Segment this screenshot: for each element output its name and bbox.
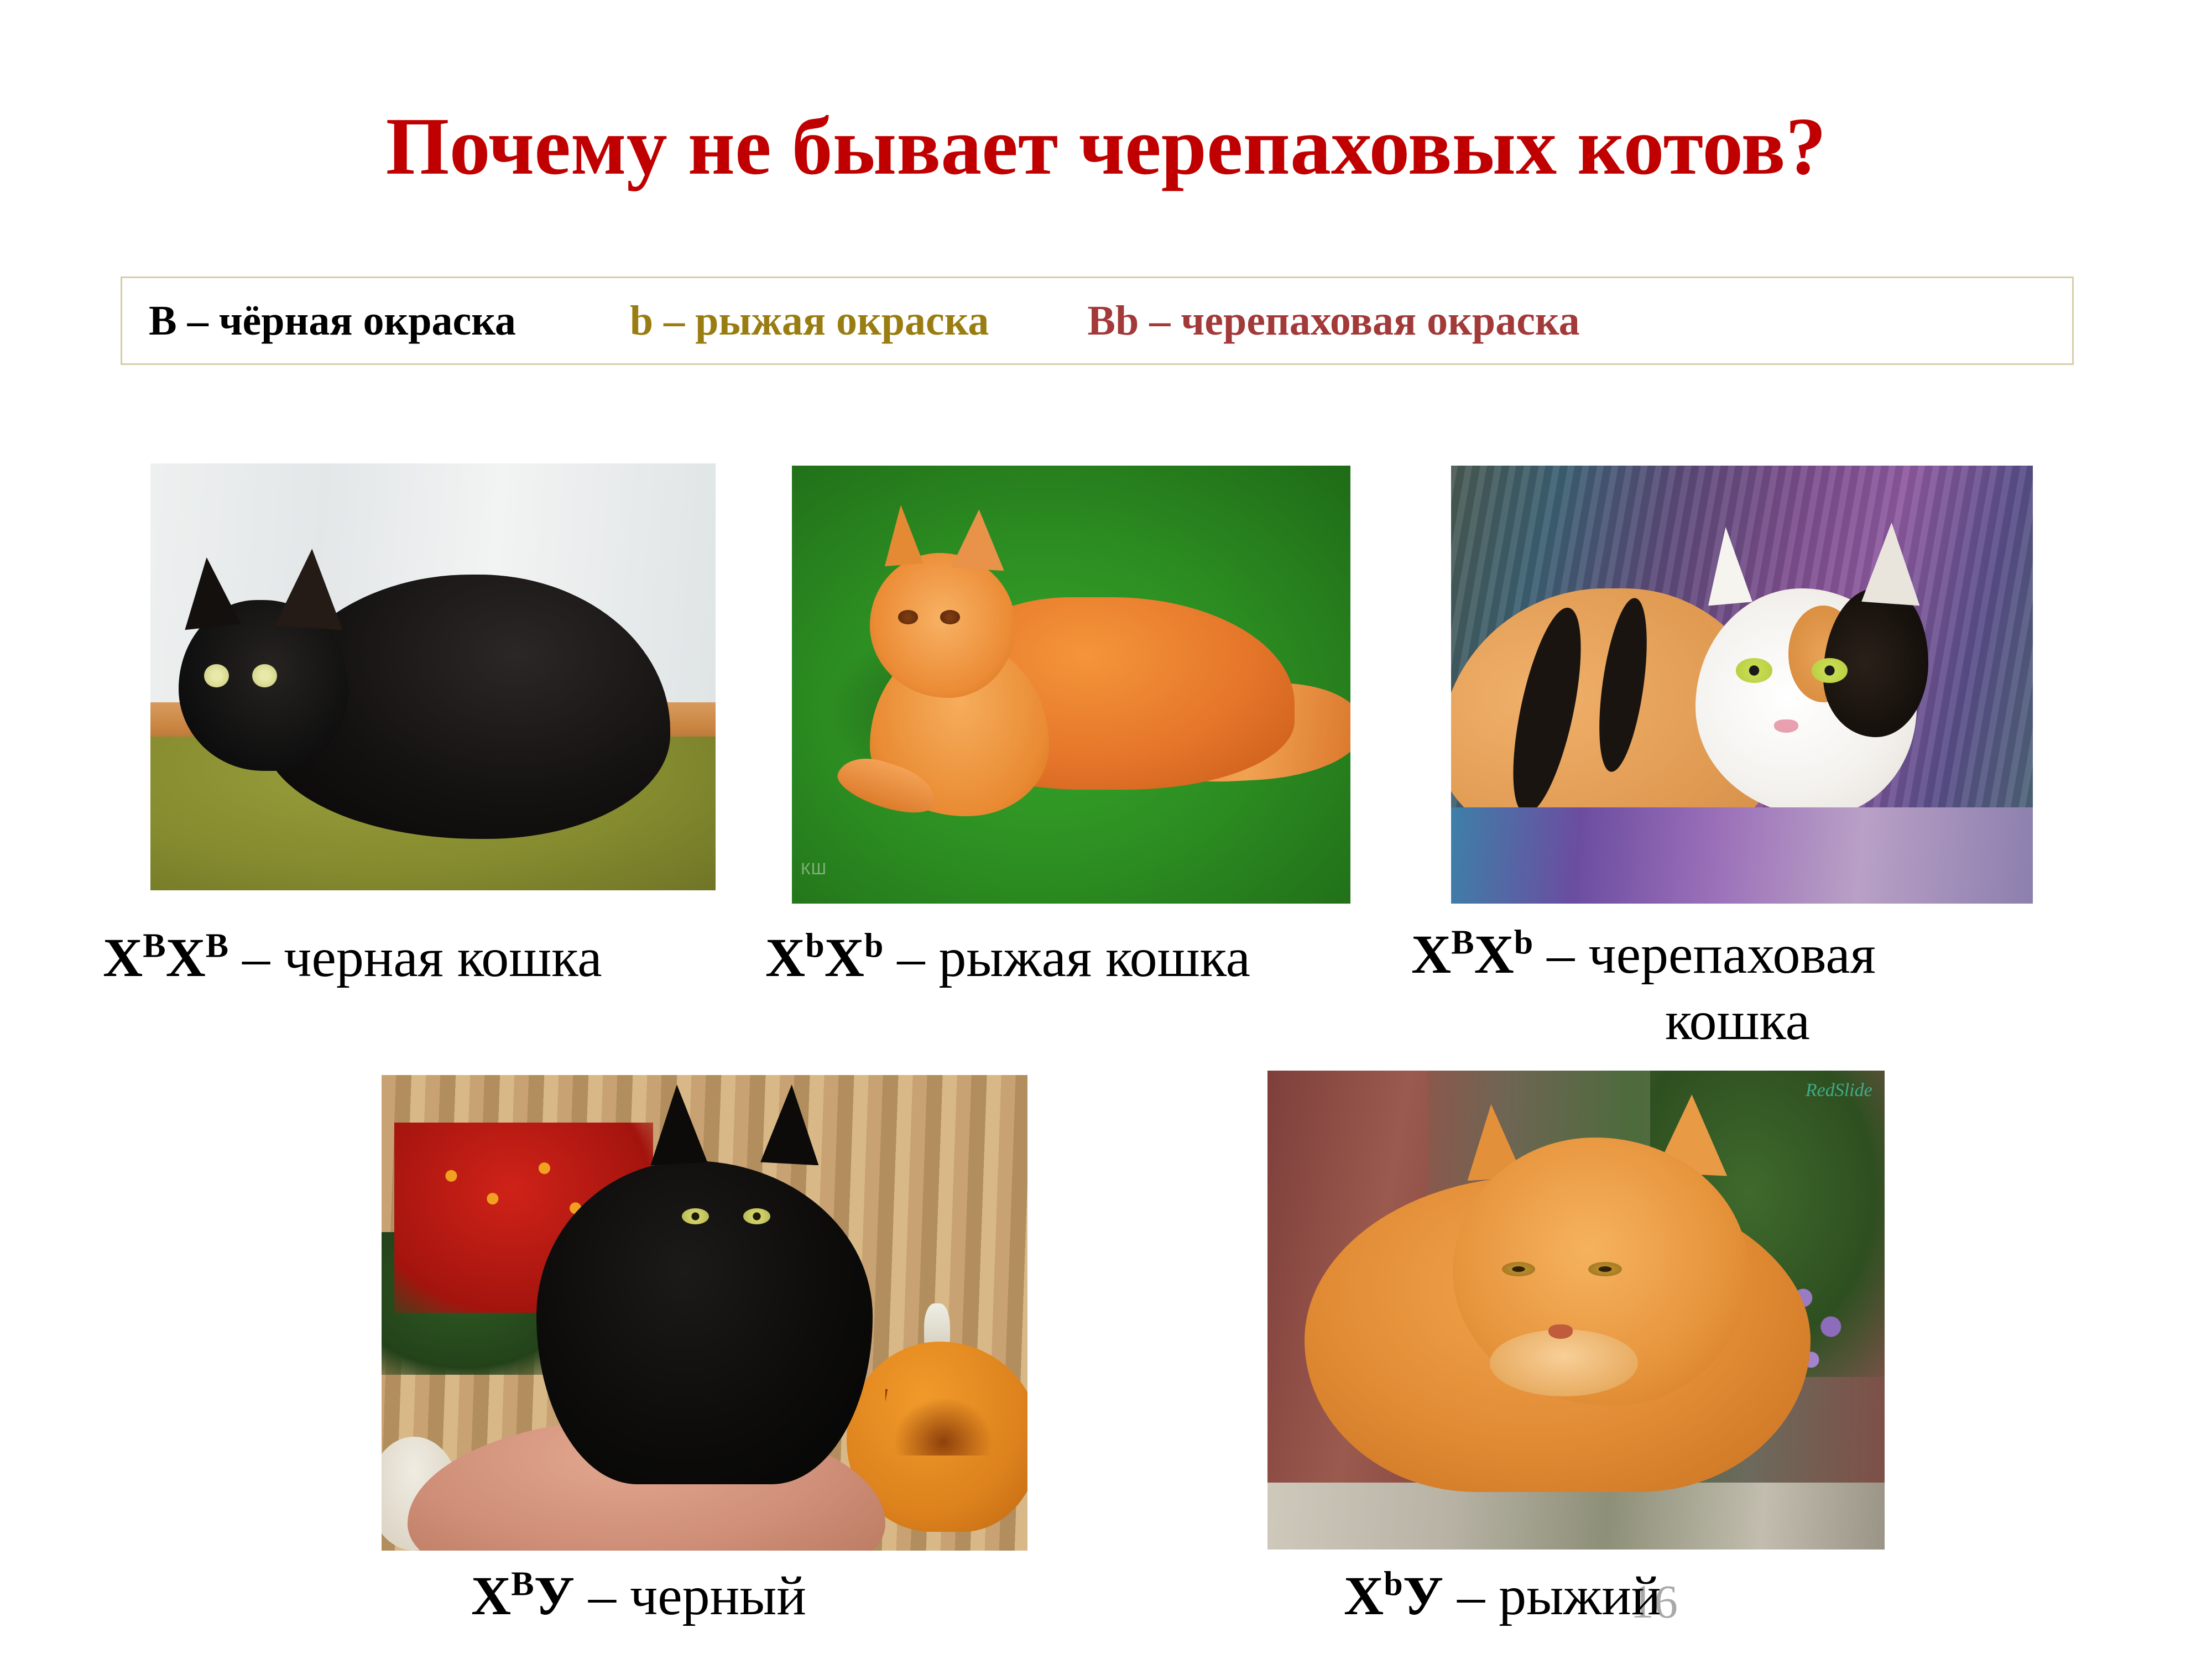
- caption-ginger-male-text: – рыжий: [1443, 1565, 1661, 1626]
- cat-muzzle: [1490, 1329, 1638, 1396]
- genotype-ginger-male: XbУ: [1344, 1565, 1443, 1626]
- photo-calico-cat-fabric: [1451, 466, 2033, 904]
- cat-eye-left: [898, 610, 918, 624]
- cat-eye-right: [1812, 658, 1848, 682]
- cat-eye-left: [682, 1208, 709, 1224]
- caption-tortoiseshell-female-line2: кошка: [1411, 988, 2064, 1054]
- page-title: Почему не бывает черепаховых котов?: [0, 104, 2212, 190]
- genotype-black-male: XBУ: [471, 1565, 575, 1626]
- jack-o-lantern-face: [885, 1389, 1001, 1455]
- genotype-tortoiseshell-female: XBXb: [1411, 924, 1533, 985]
- caption-tortoiseshell-female-text: – черепаховая: [1533, 924, 1875, 985]
- photo-watermark: RedSlide: [1806, 1080, 1872, 1101]
- caption-black-male-text: – черный: [575, 1565, 806, 1626]
- caption-ginger-male: XbУ – рыжий: [1344, 1563, 1661, 1629]
- caption-ginger-female: XbXb – рыжая кошка: [765, 925, 1250, 991]
- photo-ginger-cat-green: КШ: [792, 466, 1350, 904]
- caption-black-female-text: – черная кошка: [228, 927, 602, 988]
- cat-eye-left: [1736, 658, 1772, 682]
- legend-box: B – чёрная окраска b – рыжая окраска Bb …: [121, 276, 2074, 365]
- cat-eye-right: [743, 1208, 770, 1224]
- photo-watermark: КШ: [801, 860, 827, 879]
- genotype-ginger-female: XbXb: [765, 927, 883, 988]
- purple-cloth: [1451, 807, 2033, 904]
- cat-nose: [1548, 1324, 1573, 1339]
- photo-ginger-cat-stone: RedSlide: [1267, 1071, 1885, 1550]
- photo-black-cat-pumpkin: [382, 1075, 1027, 1551]
- caption-ginger-female-text: – рыжая кошка: [883, 927, 1250, 988]
- cat-eye-left: [204, 664, 229, 687]
- cat-body: [536, 1161, 872, 1484]
- legend-item-black: B – чёрная окраска: [149, 300, 516, 342]
- caption-black-male: XBУ – черный: [471, 1563, 806, 1629]
- cat-nose: [1774, 719, 1798, 733]
- cat-head: [870, 553, 1015, 697]
- photo-black-cat-carpet: [150, 463, 716, 890]
- genotype-black-female: XBXB: [103, 927, 228, 988]
- legend-item-tortoiseshell: Bb – черепаховая окраска: [1087, 300, 1579, 342]
- caption-tortoiseshell-female: XBXb – черепаховая кошка: [1411, 921, 2103, 1054]
- cat-eye-right: [252, 664, 277, 687]
- legend-row: B – чёрная окраска b – рыжая окраска Bb …: [122, 278, 2072, 363]
- cat-eye-right: [940, 610, 960, 624]
- caption-black-female: XBXB – черная кошка: [103, 925, 711, 991]
- cat-eye-right: [1588, 1262, 1621, 1276]
- stone-ledge: [1267, 1483, 1885, 1550]
- legend-item-ginger: b – рыжая окраска: [630, 300, 989, 342]
